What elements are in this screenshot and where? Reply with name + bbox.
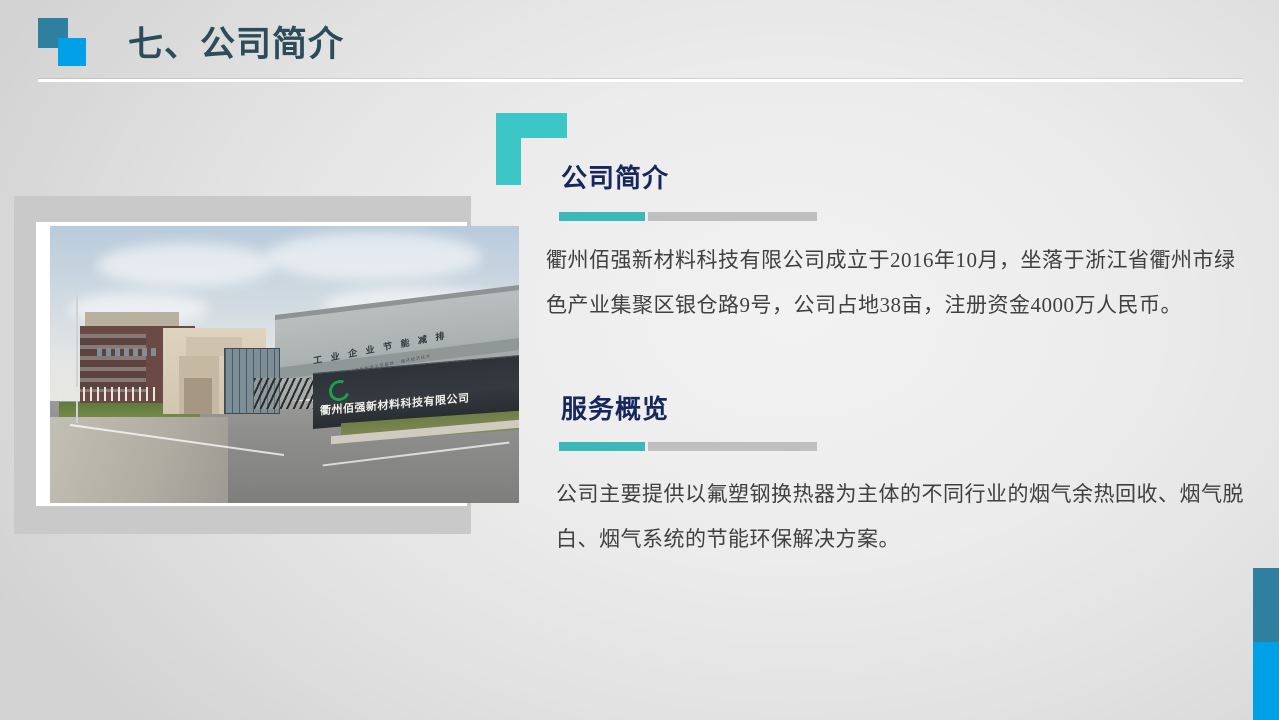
section-heading-service-overview: 服务概览 <box>561 389 669 426</box>
underline-segment-gray <box>648 212 817 221</box>
header-square-bright-icon <box>58 38 86 66</box>
accent-bar-bottom <box>1253 642 1279 720</box>
section-heading-company-intro: 公司简介 <box>561 158 669 195</box>
corner-bracket-decoration <box>496 113 567 185</box>
photo-gate <box>254 378 320 408</box>
accent-bar-top <box>1253 568 1279 642</box>
underline-segment-teal <box>559 212 645 221</box>
photo-office-door <box>184 378 212 414</box>
photo-office-window-row <box>97 348 158 356</box>
section-underline-company-intro <box>559 212 817 221</box>
header-divider <box>38 79 1243 82</box>
factory-photo: 工 业 企 业 节 能 减 排 节能减排先进企业 · 绿色制造示范基地 · 循环… <box>50 226 519 503</box>
page-title: 七、公司简介 <box>128 16 344 67</box>
underline-segment-gray <box>648 442 817 451</box>
photo-cloud <box>97 243 275 287</box>
photo-office-windows <box>80 334 146 392</box>
section-underline-service-overview <box>559 442 817 451</box>
photo-fence <box>55 387 158 401</box>
photo-cloud <box>266 232 482 282</box>
section-body-company-intro: 衢州佰强新材料科技有限公司成立于2016年10月，坐落于浙江省衢州市绿色产业集聚… <box>546 238 1246 328</box>
photo-road <box>50 417 228 503</box>
slide-canvas: 七、公司简介 工 业 企 业 节 能 减 排 节能减排先进企业 · 绿色制造示范… <box>0 0 1279 720</box>
photo-frame: 工 业 企 业 节 能 减 排 节能减排先进企业 · 绿色制造示范基地 · 循环… <box>14 196 471 534</box>
underline-segment-teal <box>559 442 645 451</box>
photo-light-pole <box>76 295 78 422</box>
section-body-service-overview: 公司主要提供以氟塑钢换热器为主体的不同行业的烟气余热回收、烟气脱白、烟气系统的节… <box>556 472 1256 562</box>
